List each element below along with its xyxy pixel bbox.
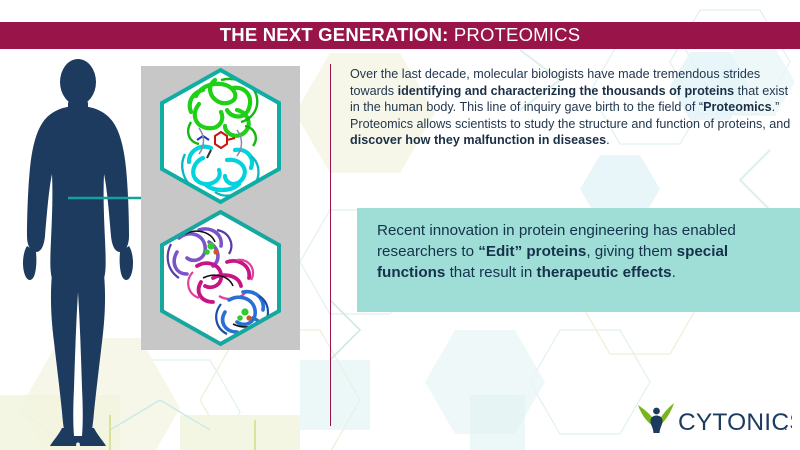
callout-run: .	[672, 264, 676, 281]
page-title: THE NEXT GENERATION: PROTEOMICS	[220, 26, 580, 45]
title-banner: THE NEXT GENERATION: PROTEOMICS	[0, 22, 800, 49]
logo-figure-icon	[651, 408, 663, 433]
paragraph-run-bold: Proteomics	[703, 100, 772, 114]
callout-text: Recent innovation in protein engineering…	[377, 220, 789, 283]
highlight-callout-box: Recent innovation in protein engineering…	[357, 208, 800, 312]
paragraph-run-bold: discover how they malfunction in disease…	[350, 133, 606, 147]
protein-structure-top	[162, 70, 279, 202]
title-bold-part: THE NEXT GENERATION:	[220, 24, 449, 45]
vertical-divider	[330, 64, 331, 426]
slide-canvas: THE NEXT GENERATION: PROTEOMICS	[0, 0, 800, 450]
logo-trademark: .	[784, 418, 788, 433]
protein-image-panel	[141, 66, 300, 350]
protein-structure-bottom	[162, 212, 279, 344]
paragraph-run: .	[606, 133, 610, 147]
cytonics-logo: CYTONICS .	[634, 399, 792, 441]
human-body-silhouette	[18, 56, 138, 446]
paragraph-run-bold: identifying and characterizing the thous…	[398, 84, 735, 98]
callout-run: that result in	[445, 264, 536, 281]
title-regular-part: PROTEOMICS	[454, 24, 580, 45]
logo-wordmark: CYTONICS	[678, 409, 792, 436]
callout-run-bold: “Edit” proteins	[478, 243, 586, 260]
callout-run-bold: therapeutic effects	[537, 264, 672, 281]
body-paragraph: Over the last decade, molecular biologis…	[350, 66, 792, 149]
callout-run: , giving them	[586, 243, 676, 260]
